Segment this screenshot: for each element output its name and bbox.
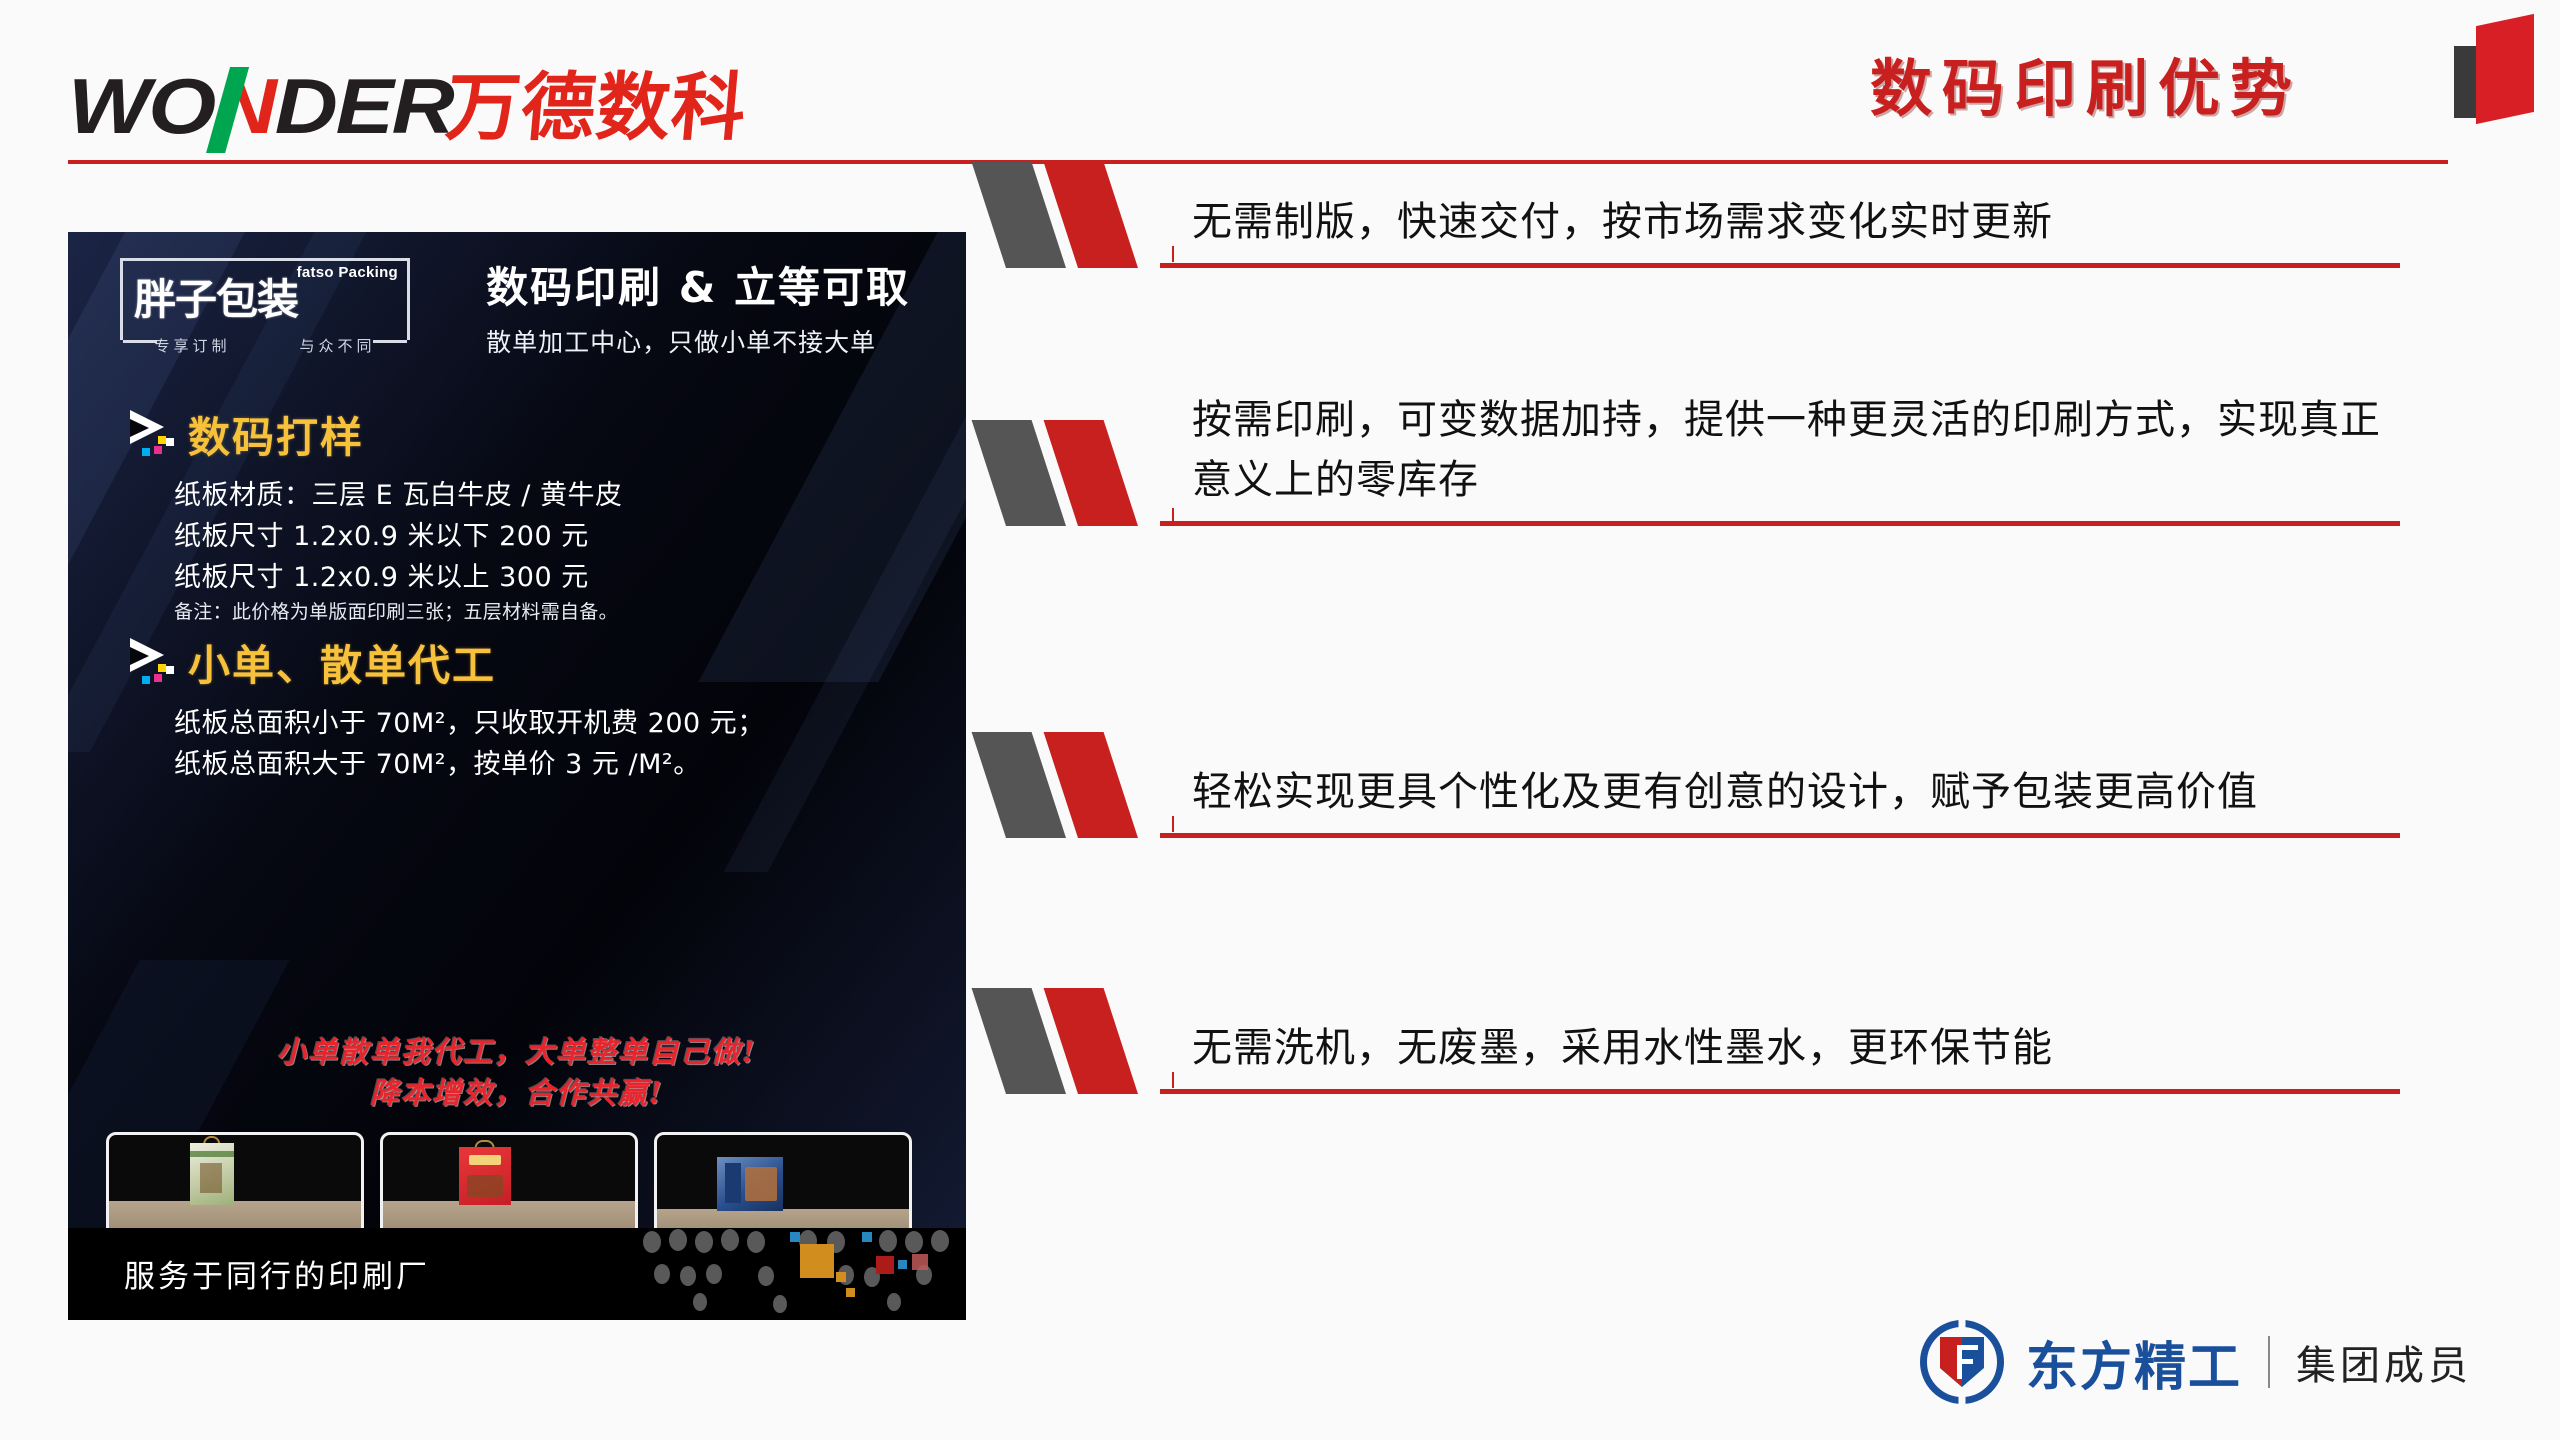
group-member-logo: 东方精工 集团成员: [1920, 1320, 2472, 1404]
fatso-logo-english-text: fatso Packing: [297, 264, 398, 281]
poster-section-digital-proofing: 数码打样 纸板材质：三层 E 瓦白牛皮 / 黄牛皮 纸板尺寸 1.2x0.9 米…: [126, 404, 623, 627]
page-title: 数码印刷优势: [1870, 38, 2302, 128]
product-photo-blue-beef-box: [654, 1132, 912, 1238]
poster-header-band: 胖子包装 fatso Packing 专享订制 与众不同 数码印刷 & 立等可取…: [68, 232, 966, 364]
section-line: 纸板材质：三层 E 瓦白牛皮 / 黄牛皮: [126, 475, 623, 516]
section-line: 纸板尺寸 1.2x0.9 米以下 200 元: [126, 516, 623, 557]
section-heading: 小单、散单代工: [126, 632, 765, 693]
poster-dot-pattern-icon: [640, 1226, 960, 1314]
section-heading: 数码打样: [126, 404, 623, 465]
advantage-text: 按需印刷，可变数据加持，提供一种更灵活的印刷方式，实现真正意义上的零库存: [1192, 390, 2402, 510]
product-photo-red-gift-box: [380, 1132, 638, 1238]
wonder-wordmark: WONDER: [68, 61, 453, 152]
poster-headline: 数码印刷 & 立等可取: [486, 254, 910, 315]
bullet-tick-mark: [1172, 246, 1174, 262]
poster-subheadline: 散单加工中心，只做小单不接大单: [486, 323, 910, 359]
poster-slogan: 小单散单我代工，大单整单自己做! 降本增效，合作共赢!: [68, 1032, 966, 1114]
poster-headline-group: 数码印刷 & 立等可取 散单加工中心，只做小单不接大单: [486, 254, 910, 359]
section-title: 小单、散单代工: [188, 632, 496, 693]
fatso-packing-logo: 胖子包装 fatso Packing 专享订制 与众不同: [120, 254, 410, 350]
bullet-tick-mark: [1172, 1072, 1174, 1088]
chevron-bullet-icon: [1006, 988, 1184, 1094]
section-line: 纸板总面积小于 70M²，只收取开机费 200 元；: [126, 703, 765, 744]
poster-sheen: [724, 352, 966, 872]
promo-poster-image: 胖子包装 fatso Packing 专享订制 与众不同 数码印刷 & 立等可取…: [68, 232, 966, 1320]
corner-decoration-icon: [2454, 0, 2552, 118]
footer-company-name: 东方精工: [2026, 1325, 2242, 1400]
advantage-text: 无需洗机，无废墨，采用水性墨水，更环保节能: [1192, 1018, 2402, 1078]
arrow-bullet-icon: [126, 636, 188, 690]
advantage-text: 无需制版，快速交付，按市场需求变化实时更新: [1192, 192, 2402, 252]
footer-divider: [2268, 1336, 2270, 1388]
advantage-underline: [1160, 521, 2400, 526]
chevron-bullet-icon: [1006, 162, 1184, 268]
poster-footer-band: 服务于同行的印刷厂: [68, 1228, 966, 1320]
advantage-underline: [1160, 263, 2400, 268]
chevron-bullet-icon: [1006, 420, 1184, 526]
bullet-tick-mark: [1172, 816, 1174, 832]
slide-header: WONDER 万德数科 数码印刷优势: [0, 0, 2560, 168]
poster-section-small-order-oem: 小单、散单代工 纸板总面积小于 70M²，只收取开机费 200 元； 纸板总面积…: [126, 632, 765, 785]
fatso-sub-right: 与众不同: [299, 335, 375, 356]
wonder-brand-chinese: 万德数科: [443, 48, 752, 155]
fatso-sub-left: 专享订制: [154, 335, 230, 356]
slogan-line-1: 小单散单我代工，大单整单自己做!: [68, 1032, 966, 1073]
corner-red-block: [2476, 14, 2534, 124]
footer-member-label: 集团成员: [2296, 1333, 2472, 1391]
wonder-brand-logo: WONDER 万德数科: [68, 48, 747, 155]
advantage-underline: [1160, 1089, 2400, 1094]
wonder-wordmark-part3: DER: [275, 62, 453, 150]
header-divider-rule: [68, 160, 2448, 164]
arrow-bullet-icon: [126, 408, 188, 462]
advantage-underline: [1160, 833, 2400, 838]
chevron-bullet-icon: [1006, 732, 1184, 838]
fatso-logo-subtitle: 专享订制 与众不同: [120, 335, 410, 356]
slogan-line-2: 降本增效，合作共赢!: [68, 1073, 966, 1114]
wonder-wordmark-part1: WO: [68, 62, 214, 150]
section-line: 纸板总面积大于 70M²，按单价 3 元 /M²。: [126, 744, 765, 785]
advantage-text: 轻松实现更具个性化及更有创意的设计，赋予包装更高价值: [1192, 762, 2402, 822]
section-note: 备注：此价格为单版面印刷三张；五层材料需自备。: [126, 598, 623, 627]
poster-footer-text: 服务于同行的印刷厂: [124, 1251, 430, 1296]
section-title: 数码打样: [188, 404, 364, 465]
product-photo-honey-gift-box: [106, 1132, 364, 1238]
dongfang-jingong-circle-logo-icon: [1920, 1320, 2004, 1404]
fatso-logo-main-text: 胖子包装: [134, 266, 298, 327]
section-line: 纸板尺寸 1.2x0.9 米以上 300 元: [126, 557, 623, 598]
slide-canvas: WONDER 万德数科 数码印刷优势 胖子包装 fatso Packing 专享…: [0, 0, 2560, 1440]
